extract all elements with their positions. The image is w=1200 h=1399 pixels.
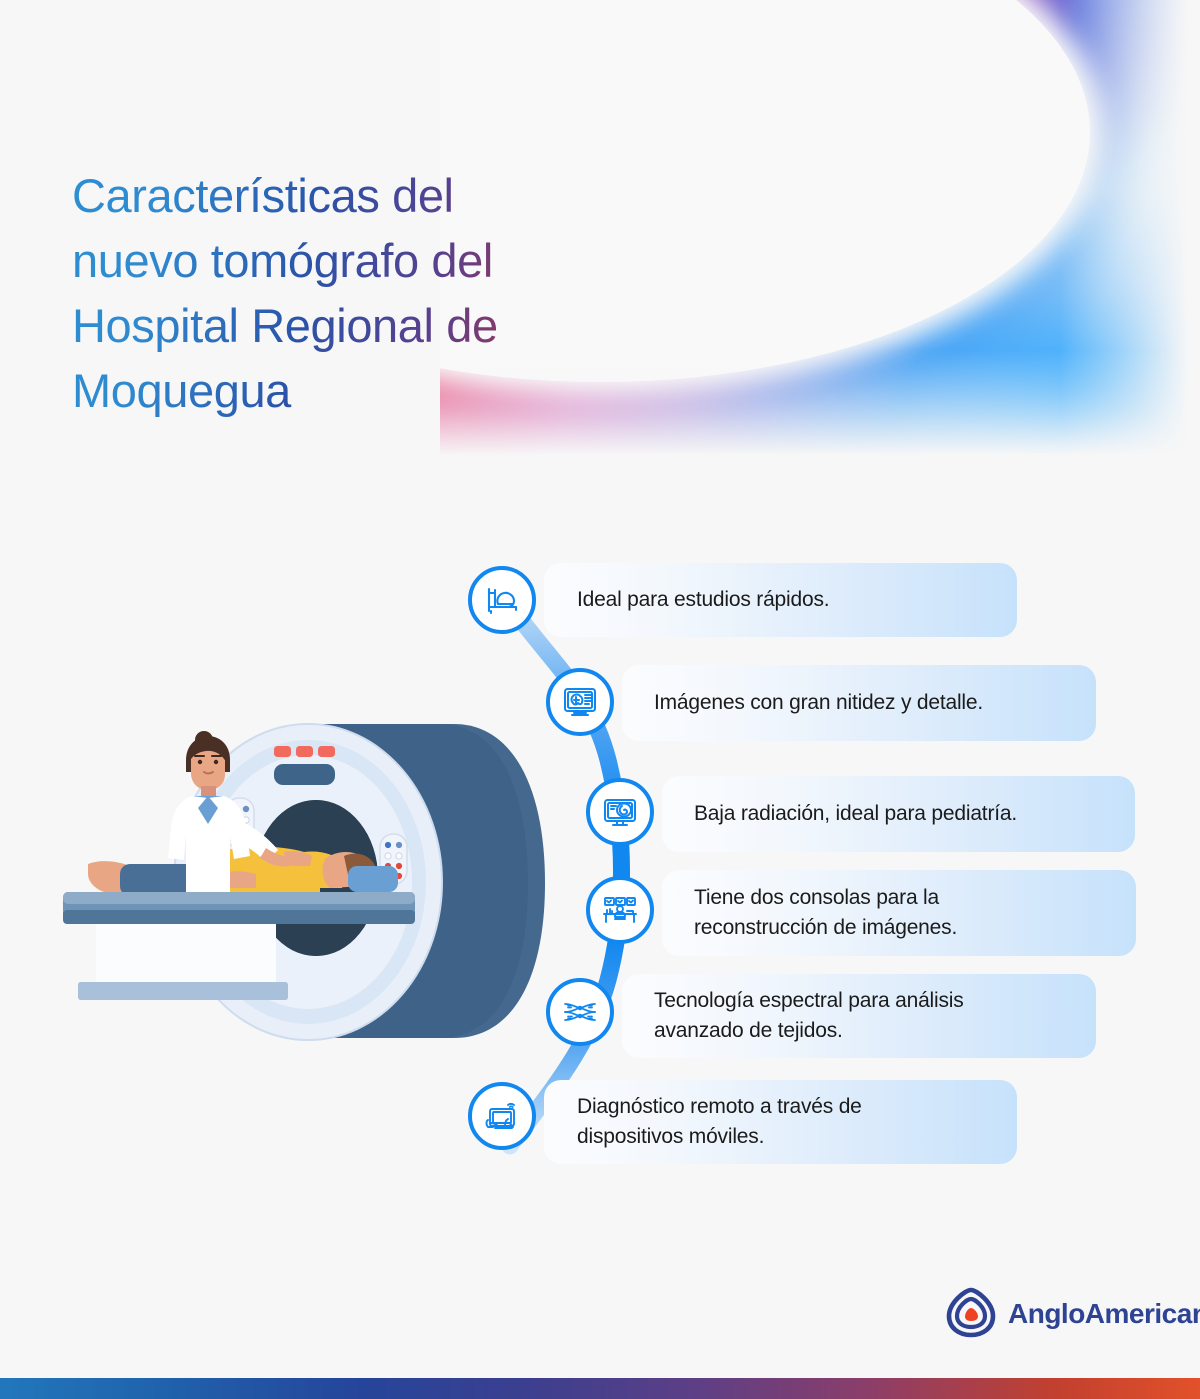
bottom-gradient-bar (0, 1378, 1200, 1399)
feature-text-1: Ideal para estudios rápidos. (577, 585, 829, 615)
feature-card-3[interactable]: Baja radiación, ideal para pediatría. (662, 776, 1135, 852)
feature-card-6[interactable]: Diagnóstico remoto a través de dispositi… (544, 1080, 1017, 1164)
feature-card-2[interactable]: Imágenes con gran nitidez y detalle. (622, 665, 1096, 741)
anglo-american-mark-icon (944, 1286, 998, 1343)
feature-badge-6[interactable] (468, 1082, 536, 1150)
ct-scanner-illustration (58, 716, 558, 1046)
page-title: Características del nuevo tomógrafo del … (72, 163, 692, 423)
anglo-american-wordmark: AngloAmerican (1008, 1298, 1200, 1330)
anglo-american-logo: AngloAmerican (944, 1283, 1154, 1345)
feature-text-5: Tecnología espectral para análisis avanz… (654, 986, 964, 1046)
feature-card-1[interactable]: Ideal para estudios rápidos. (544, 563, 1017, 637)
feature-text-6: Diagnóstico remoto a través de dispositi… (577, 1092, 862, 1152)
tablet-wireless-icon (482, 1096, 522, 1136)
feature-text-4: Tiene dos consolas para la reconstrucció… (694, 883, 957, 943)
feature-card-5[interactable]: Tecnología espectral para análisis avanz… (622, 974, 1096, 1058)
feature-badge-3[interactable] (586, 778, 654, 846)
feature-card-4[interactable]: Tiene dos consolas para la reconstrucció… (662, 870, 1136, 956)
feature-text-2: Imágenes con gran nitidez y detalle. (654, 688, 983, 718)
tissue-spectral-pattern-icon (560, 992, 600, 1032)
monitor-pediatric-scan-icon (600, 792, 640, 832)
feature-badge-4[interactable] (586, 876, 654, 944)
feature-text-3: Baja radiación, ideal para pediatría. (694, 799, 1017, 829)
patient-on-scanner-bed-icon (482, 580, 522, 620)
feature-badge-1[interactable] (468, 566, 536, 634)
control-console-desk-icon (600, 890, 640, 930)
monitor-brain-scan-icon (560, 682, 600, 722)
